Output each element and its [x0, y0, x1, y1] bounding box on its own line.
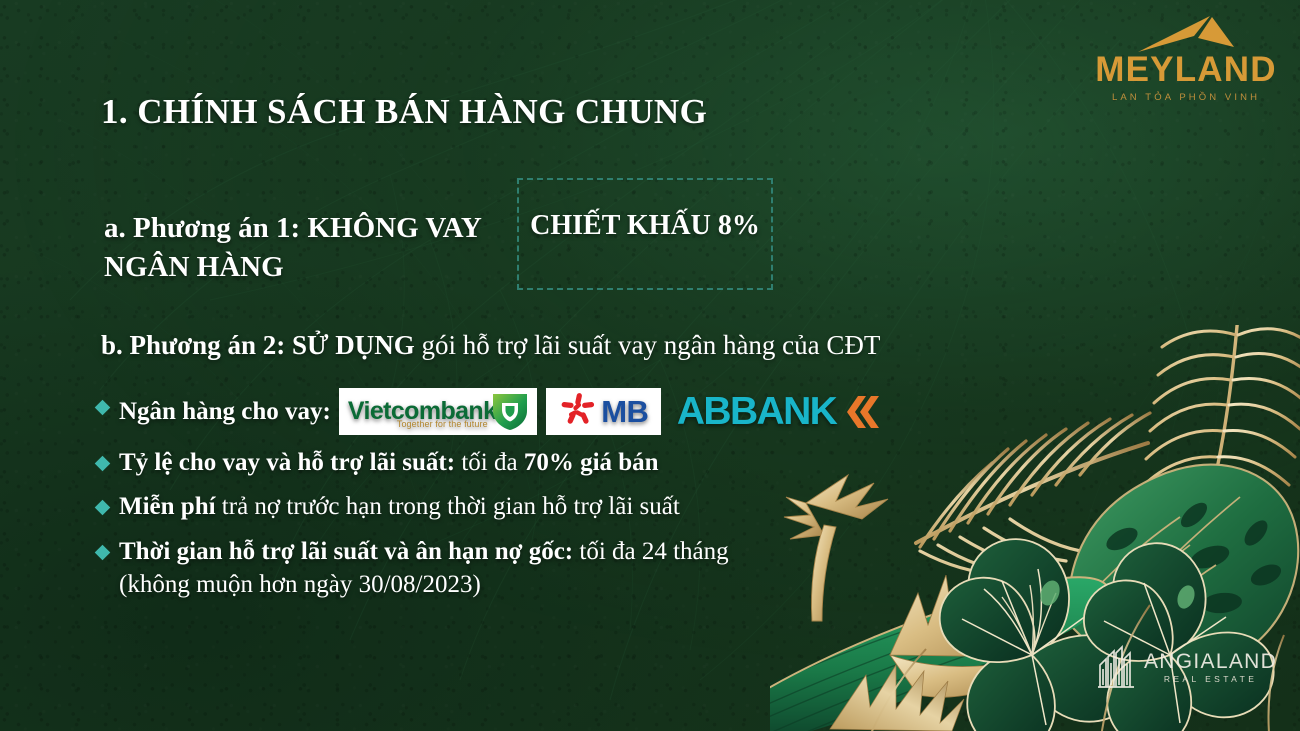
- meyland-tagline: LAN TỎA PHỒN VINH: [1082, 92, 1290, 103]
- mb-bank-logo: MB: [546, 388, 661, 435]
- list-item: Tỷ lệ cho vay và hỗ trợ lãi suất: tối đa…: [97, 446, 1017, 479]
- option-a-line2: NGÂN HÀNG: [104, 251, 284, 283]
- diamond-bullet-icon: [95, 400, 111, 416]
- bullet-2-label: Tỷ lệ cho vay và hỗ trợ lãi suất:: [119, 449, 455, 476]
- presentation-slide: MEYLAND LAN TỎA PHỒN VINH 1. CHÍNH SÁCH …: [0, 0, 1300, 731]
- vietcombank-logo: Vietcombank Together for the future: [339, 388, 537, 435]
- option-b-rest: gói hỗ trợ lãi suất vay ngân hàng của CĐ…: [415, 330, 881, 360]
- discount-label: CHIẾT KHẤU 8%: [530, 210, 760, 242]
- diamond-bullet-icon: [95, 456, 111, 472]
- bullet-3-label: Miễn phí: [119, 493, 216, 520]
- diamond-bullet-icon: [95, 500, 111, 516]
- option-a-text: a. Phương án 1: KHÔNG VAY NGÂN HÀNG: [104, 209, 524, 287]
- mb-wordmark: MB: [601, 396, 648, 427]
- angialand-subtitle: REAL ESTATE: [1144, 675, 1277, 684]
- angialand-watermark: ANGIALAND REAL ESTATE: [1096, 645, 1277, 689]
- bullet-list: Ngân hàng cho vay: Vietcombank Together …: [97, 388, 1017, 612]
- bullet-1-label: Ngân hàng cho vay:: [119, 395, 331, 428]
- list-item: Miễn phí trả nợ trước hạn trong thời gia…: [97, 490, 1017, 523]
- angialand-name: ANGIALAND: [1144, 651, 1277, 672]
- meyland-logo: MEYLAND LAN TỎA PHỒN VINH: [1082, 14, 1290, 108]
- meyland-wordmark: MEYLAND: [1082, 52, 1290, 87]
- discount-callout-box: CHIẾT KHẤU 8%: [517, 178, 773, 290]
- diamond-bullet-icon: [95, 544, 111, 560]
- abbank-wordmark: ABBANK: [677, 392, 836, 431]
- option-b-text: b. Phương án 2: SỬ DỤNG gói hỗ trợ lãi s…: [101, 330, 880, 361]
- bullet-2-highlight: 70% giá bán: [524, 449, 659, 476]
- mb-star-icon: [558, 392, 598, 432]
- option-b-bold: b. Phương án 2: SỬ DỤNG: [101, 330, 415, 360]
- list-item: Ngân hàng cho vay: Vietcombank Together …: [97, 388, 1017, 435]
- abbank-chevron-icon: [838, 392, 880, 432]
- vietcombank-tagline: Together for the future: [397, 419, 488, 431]
- slide-title: 1. CHÍNH SÁCH BÁN HÀNG CHUNG: [101, 92, 707, 132]
- bank-logo-group: Vietcombank Together for the future: [339, 388, 880, 435]
- list-item: Thời gian hỗ trợ lãi suất và ân hạn nợ g…: [97, 535, 1017, 602]
- building-icon: [1096, 645, 1136, 689]
- abbank-logo: ABBANK: [677, 392, 880, 432]
- option-a-line1: a. Phương án 1: KHÔNG VAY: [104, 212, 482, 244]
- vietcombank-shield-icon: [490, 391, 530, 431]
- bullet-2-rest: tối đa: [455, 449, 524, 476]
- bullet-4-rest: tối đa 24 tháng: [573, 538, 729, 565]
- bullet-3-rest: trả nợ trước hạn trong thời gian hỗ trợ …: [216, 493, 680, 520]
- bullet-4-rest-line2: (không muộn hơn ngày 30/08/2023): [119, 571, 481, 598]
- meyland-bird-icon: [1082, 14, 1290, 54]
- bullet-4-label: Thời gian hỗ trợ lãi suất và ân hạn nợ g…: [119, 538, 573, 565]
